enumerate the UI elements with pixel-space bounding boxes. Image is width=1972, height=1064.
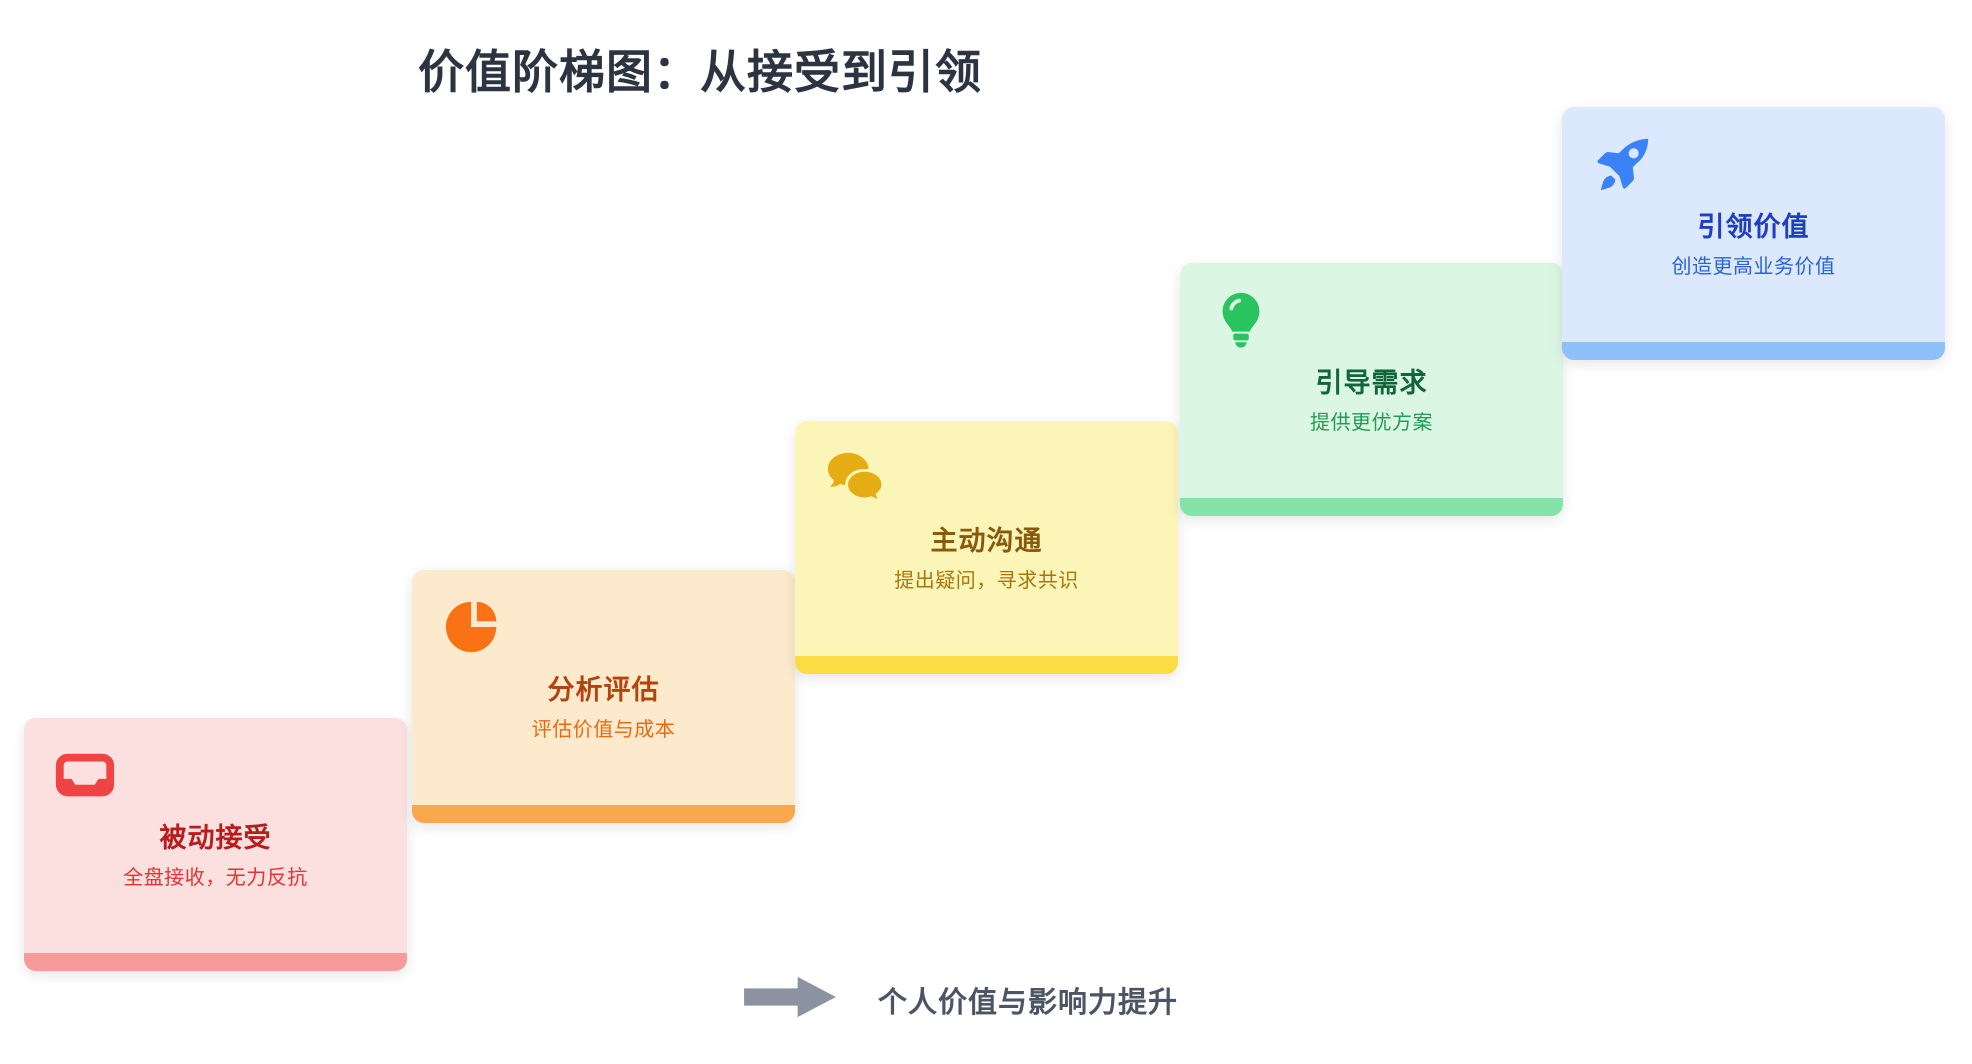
inbox-icon (54, 744, 116, 806)
card-description: 创造更高业务价值 (1592, 255, 1915, 279)
card-body: 被动接受 全盘接收，无力反抗 (24, 718, 407, 953)
rocket-icon (1592, 133, 1654, 195)
card-title: 主动沟通 (825, 525, 1148, 557)
card-accent-bar (412, 805, 795, 823)
card-title: 引领价值 (1592, 211, 1915, 243)
card-description: 提供更优方案 (1210, 411, 1533, 435)
page-title: 价值阶梯图：从接受到引领 (0, 36, 1400, 102)
growth-annotation: 个人价值与影响力提升 (742, 975, 1178, 1024)
right-arrow-icon (742, 975, 838, 1024)
growth-annotation-label: 个人价值与影响力提升 (878, 979, 1178, 1021)
card-accent-bar (795, 656, 1178, 674)
value-step-card-3[interactable]: 主动沟通 提出疑问，寻求共识 (795, 421, 1178, 674)
card-body: 引领价值 创造更高业务价值 (1562, 107, 1945, 342)
lightbulb-icon (1210, 289, 1272, 351)
card-description: 提出疑问，寻求共识 (825, 569, 1148, 593)
card-title: 被动接受 (54, 822, 377, 854)
card-body: 分析评估 评估价值与成本 (412, 570, 795, 805)
value-step-card-5[interactable]: 引领价值 创造更高业务价值 (1562, 107, 1945, 360)
card-accent-bar (24, 953, 407, 971)
card-description: 评估价值与成本 (442, 718, 765, 742)
card-title: 分析评估 (442, 674, 765, 706)
card-accent-bar (1180, 498, 1563, 516)
card-title: 引导需求 (1210, 367, 1533, 399)
card-accent-bar (1562, 342, 1945, 360)
card-description: 全盘接收，无力反抗 (54, 866, 377, 890)
value-step-card-4[interactable]: 引导需求 提供更优方案 (1180, 263, 1563, 516)
value-step-card-2[interactable]: 分析评估 评估价值与成本 (412, 570, 795, 823)
card-body: 主动沟通 提出疑问，寻求共识 (795, 421, 1178, 656)
pie-chart-icon (442, 596, 504, 658)
value-step-card-1[interactable]: 被动接受 全盘接收，无力反抗 (24, 718, 407, 971)
card-body: 引导需求 提供更优方案 (1180, 263, 1563, 498)
chat-bubbles-icon (825, 447, 887, 509)
